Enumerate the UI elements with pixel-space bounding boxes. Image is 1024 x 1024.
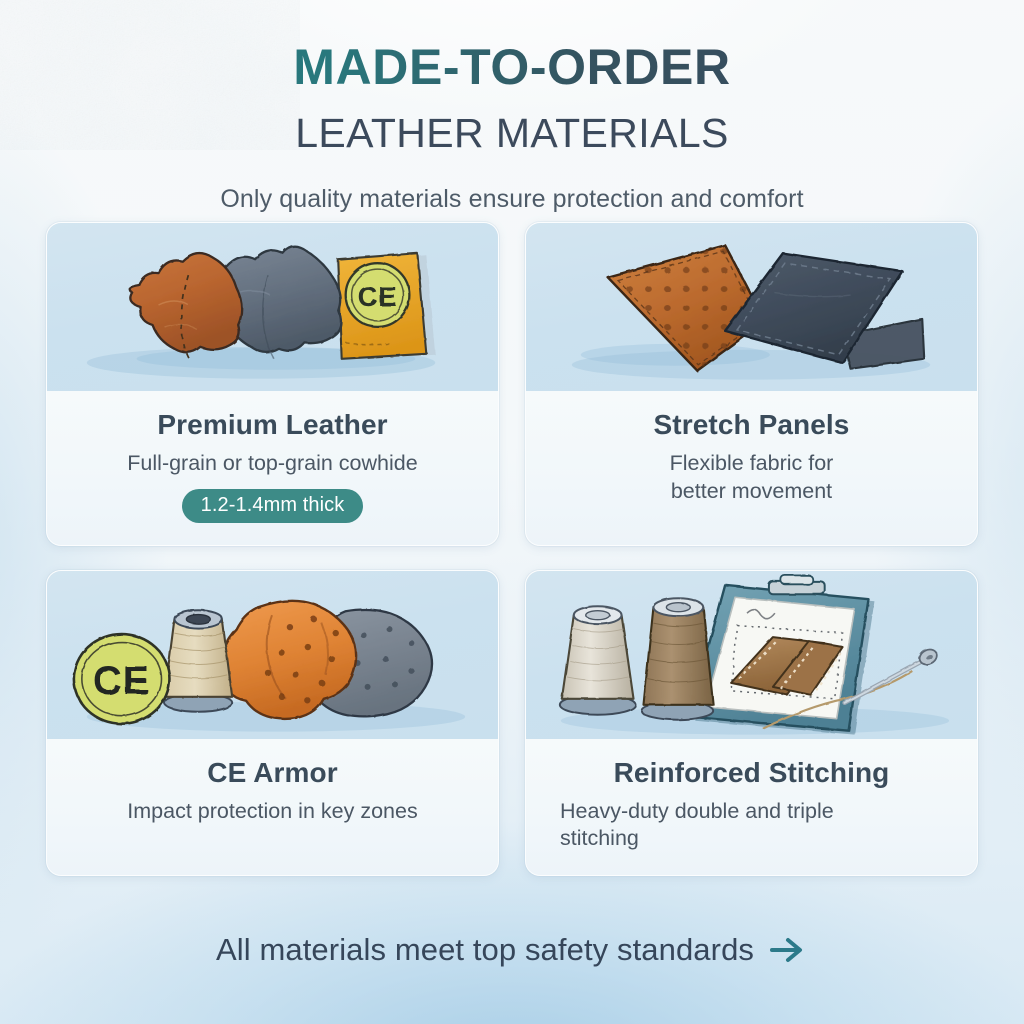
- card-title: Stretch Panels: [546, 409, 957, 441]
- footer-text: All materials meet top safety standards: [216, 932, 754, 968]
- arrow-right-icon: [768, 935, 808, 965]
- page-footer: All materials meet top safety standards: [0, 932, 1024, 968]
- page-tagline: Only quality materials ensure protection…: [0, 185, 1024, 214]
- svg-text:CE: CE: [93, 658, 150, 702]
- card-title: CE Armor: [67, 757, 478, 789]
- card-3-body: CE Armor Impact protection in key zones: [47, 739, 498, 875]
- card-title: Premium Leather: [67, 409, 478, 441]
- card-ce-armor[interactable]: CE CE Armor Impact protection in key zon…: [46, 570, 499, 876]
- card-2-body: Stretch Panels Flexible fabric for bette…: [526, 391, 977, 545]
- card-3-illustration: CE: [47, 571, 498, 739]
- card-1-body: Premium Leather Full-grain or top-grain …: [47, 391, 498, 545]
- card-1-illustration: CE: [47, 223, 498, 391]
- card-stretch-panels[interactable]: Stretch Panels Flexible fabric for bette…: [525, 222, 978, 546]
- card-title: Reinforced Stitching: [546, 757, 957, 789]
- card-description: Flexible fabric for better movement: [546, 450, 957, 505]
- card-reinforced-stitching[interactable]: Reinforced Stitching Heavy-duty double a…: [525, 570, 978, 876]
- page-subtitle: LEATHER MATERIALS: [0, 110, 1024, 157]
- page-header: MADE-TO-ORDER LEATHER MATERIALS Only qua…: [0, 0, 1024, 214]
- card-4-body: Reinforced Stitching Heavy-duty double a…: [526, 739, 977, 875]
- infographic-page: MADE-TO-ORDER LEATHER MATERIALS Only qua…: [0, 0, 1024, 1024]
- card-description: Heavy-duty double and triple stitching: [546, 798, 957, 853]
- materials-card-grid: CE: [46, 222, 978, 876]
- card-description: Full-grain or top-grain cowhide: [67, 450, 478, 478]
- card-premium-leather[interactable]: CE: [46, 222, 499, 546]
- thickness-badge: 1.2-1.4mm thick: [182, 489, 364, 523]
- card-description: Impact protection in key zones: [67, 798, 478, 826]
- page-title: MADE-TO-ORDER: [0, 38, 1024, 96]
- svg-text:CE: CE: [358, 281, 398, 312]
- card-4-illustration: [526, 571, 977, 739]
- card-2-illustration: [526, 223, 977, 391]
